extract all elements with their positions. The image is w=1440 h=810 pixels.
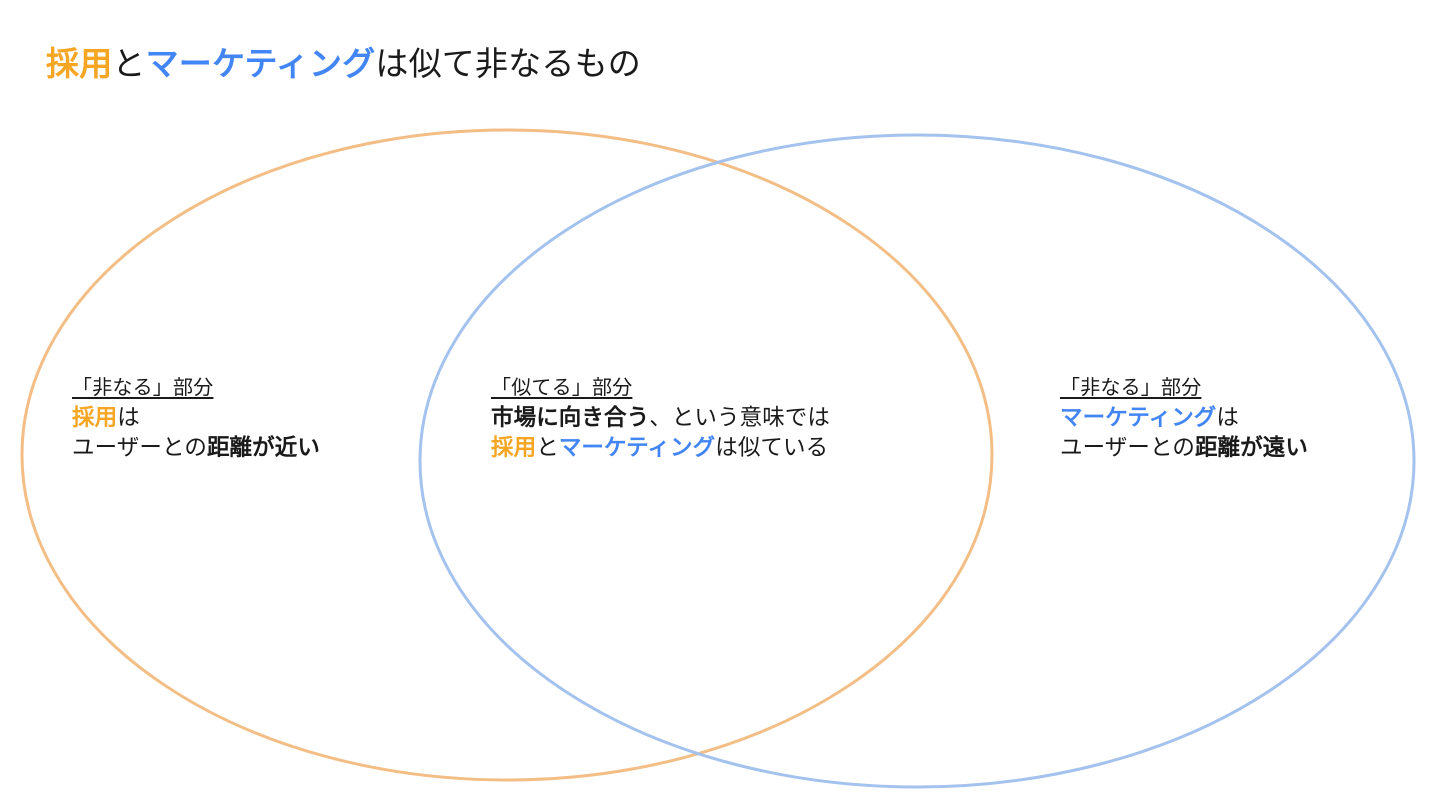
intersection-line-1: 市場に向き合う、という意味では bbox=[491, 403, 830, 433]
right-region-text-block: 「非なる」部分 マーケティングは ユーザーとの距離が遠い bbox=[1060, 375, 1308, 463]
right-region-heading: 「非なる」部分 bbox=[1060, 375, 1308, 401]
text-segment-plain: ユーザーとの bbox=[1060, 435, 1195, 460]
text-segment-plain: は bbox=[117, 405, 140, 430]
intersection-line-2: 採用とマーケティングは似ている bbox=[491, 433, 830, 463]
left-region-line-2: ユーザーとの距離が近い bbox=[72, 433, 320, 463]
text-segment-orange: 採用 bbox=[72, 405, 117, 430]
text-segment-bold: 市場に向き合う bbox=[491, 405, 649, 430]
text-segment-plain: ユーザーとの bbox=[72, 435, 207, 460]
text-segment-bold: 距離が遠い bbox=[1195, 435, 1308, 460]
right-region-line-1: マーケティングは bbox=[1060, 403, 1308, 433]
text-segment-plain: と bbox=[536, 435, 559, 460]
intersection-heading: 「似てる」部分 bbox=[491, 375, 830, 401]
left-region-line-1: 採用は bbox=[72, 403, 320, 433]
left-region-heading: 「非なる」部分 bbox=[72, 375, 320, 401]
text-segment-plain: は bbox=[1216, 405, 1239, 430]
text-segment-blue: マーケティング bbox=[1060, 405, 1216, 430]
text-segment-plain: は似ている bbox=[715, 435, 828, 460]
text-segment-plain: 、という意味では bbox=[649, 405, 830, 430]
intersection-text-block: 「似てる」部分 市場に向き合う、という意味では 採用とマーケティングは似ている bbox=[491, 375, 830, 463]
text-segment-blue: マーケティング bbox=[559, 435, 715, 460]
text-segment-bold: 距離が近い bbox=[207, 435, 320, 460]
text-segment-orange: 採用 bbox=[491, 435, 536, 460]
slide-canvas: 採用とマーケティングは似て非なるもの 「非なる」部分 採用は ユーザーとの距離が… bbox=[0, 0, 1440, 810]
left-region-text-block: 「非なる」部分 採用は ユーザーとの距離が近い bbox=[72, 375, 320, 463]
right-region-line-2: ユーザーとの距離が遠い bbox=[1060, 433, 1308, 463]
